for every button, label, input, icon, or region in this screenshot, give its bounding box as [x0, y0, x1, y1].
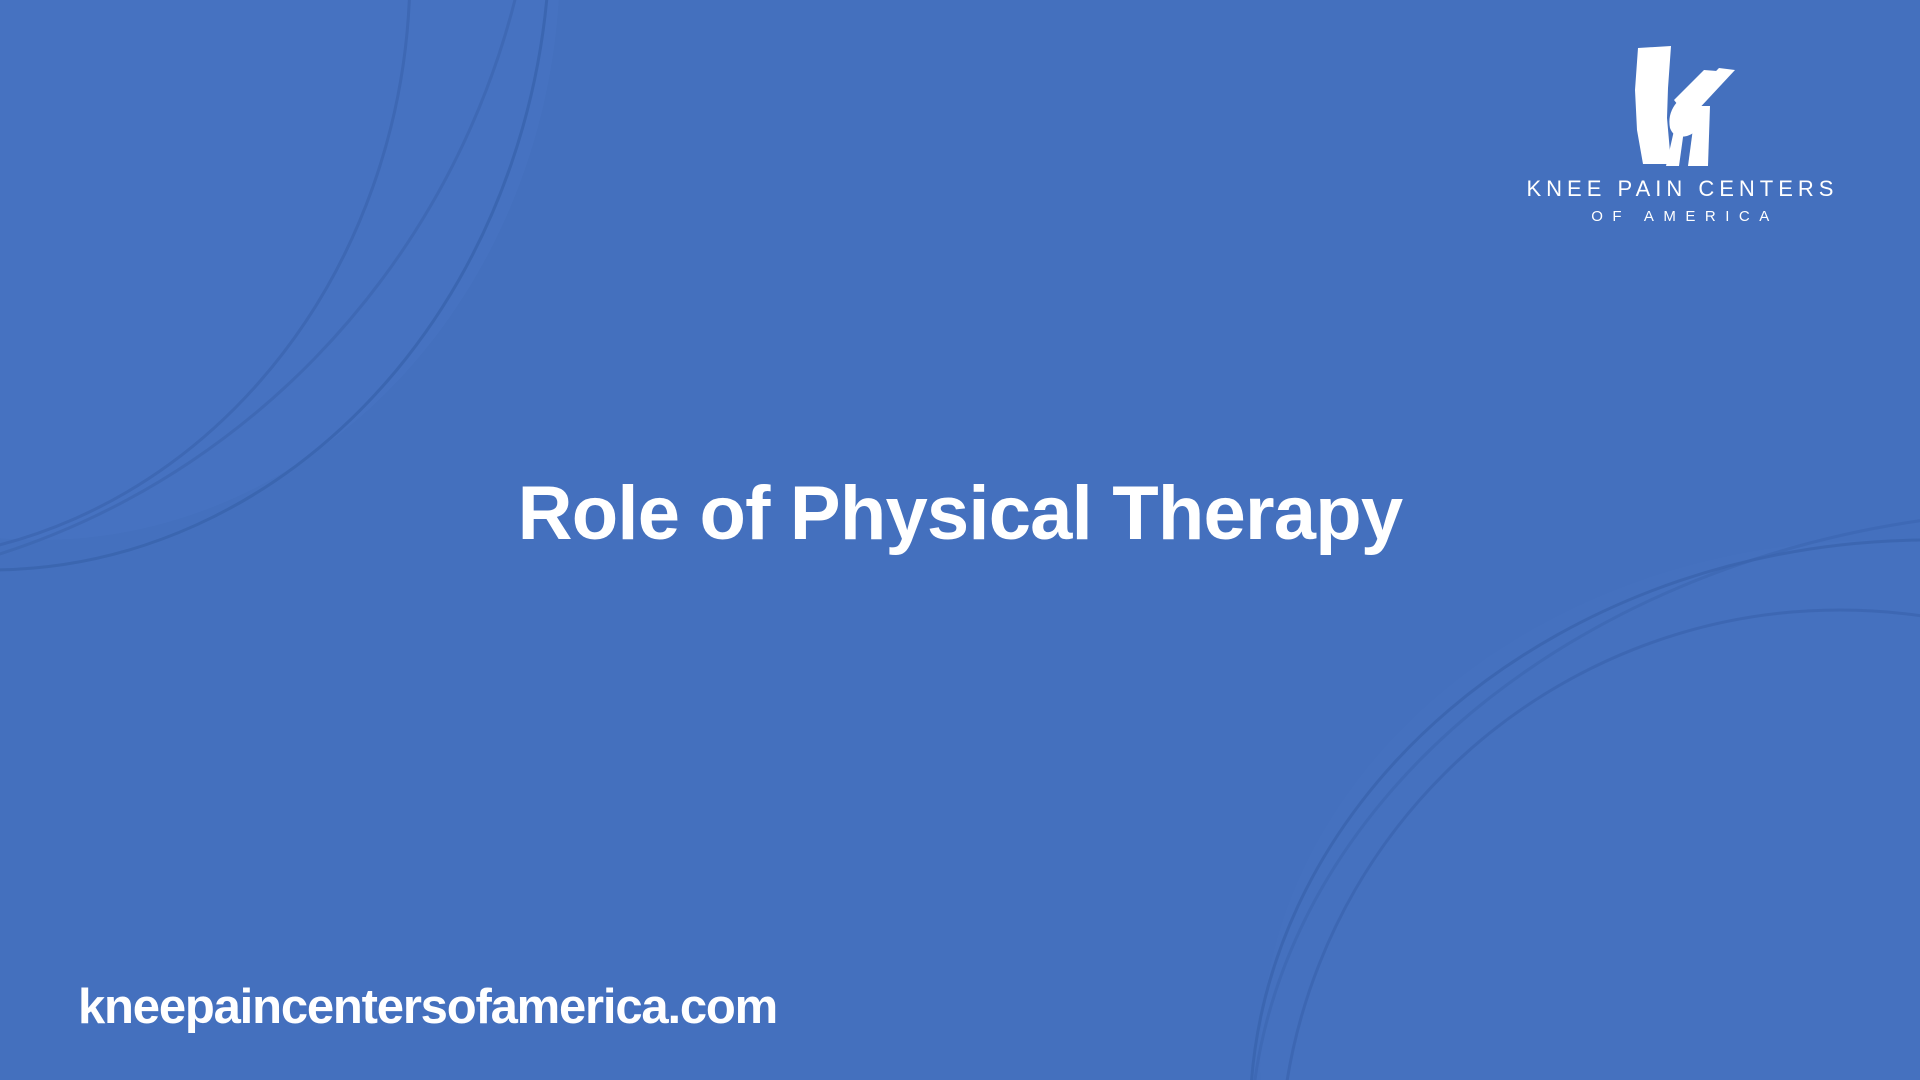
- presentation-slide: KNEE PAIN CENTERS OF AMERICA Role of Phy…: [0, 0, 1920, 1080]
- headline-block: Role of Physical Therapy: [0, 472, 1920, 556]
- knee-joint-k-icon: [1624, 44, 1736, 166]
- logo-wordmark-primary: KNEE PAIN CENTERS: [1522, 178, 1839, 200]
- decor-blob-top-left: [0, 0, 560, 540]
- brand-logo-lockup[interactable]: KNEE PAIN CENTERS OF AMERICA: [1500, 44, 1860, 224]
- website-url[interactable]: kneepaincentersofamerica.com: [78, 983, 777, 1032]
- logo-wordmark-secondary: OF AMERICA: [1581, 209, 1779, 224]
- decor-arc-bottom-right-outer: [1250, 540, 1920, 1080]
- decor-arc-bottom-right-inner: [1280, 610, 1920, 1080]
- decor-arc-bottom-right-sweep: [1250, 510, 1920, 1080]
- decor-blob-bottom-right: [1260, 540, 1920, 1080]
- slide-title: Role of Physical Therapy: [518, 472, 1403, 556]
- footer-bar: kneepaincentersofamerica.com: [78, 983, 777, 1032]
